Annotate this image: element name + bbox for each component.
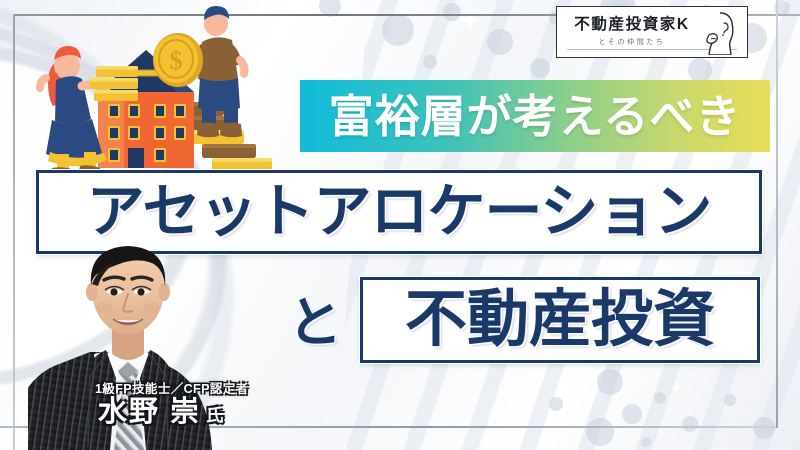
background-dot <box>688 58 712 82</box>
presenter-name-text: 水野 崇 <box>98 396 201 428</box>
headline-line3-text: 不動産投資 <box>405 289 715 351</box>
background-dot <box>530 58 550 78</box>
gold-coin-dollar-sign: $ <box>153 33 203 87</box>
background-dot <box>549 397 563 411</box>
background-dot <box>753 417 775 439</box>
thumbnail-canvas: $ 不動産投資家K とその仲間たち 富裕層が考えるべき アセットアロケーション … <box>0 0 800 450</box>
background-dot <box>443 3 461 21</box>
background-dot <box>654 392 666 404</box>
headline-line1-text: 富裕層が考えるべき <box>329 94 742 139</box>
presenter-credential: 1級FP技能士／CFP認定者 <box>95 378 249 397</box>
background-dot <box>423 55 437 69</box>
channel-logo-title: 不動産投資家K <box>574 17 689 33</box>
headline-connector: と <box>288 296 342 350</box>
background-dot <box>724 394 736 406</box>
background-dot <box>597 369 623 395</box>
frame-line-right <box>776 0 778 428</box>
real-estate-investment-illustration: $ <box>16 2 284 174</box>
background-dot <box>682 416 698 432</box>
channel-logo[interactable]: 不動産投資家K とその仲間たち <box>556 6 748 58</box>
background-dot <box>487 29 513 55</box>
svg-text:$: $ <box>170 46 183 75</box>
headline-band-line1: 富裕層が考えるべき <box>300 80 770 152</box>
channel-logo-subtitle: とその仲間たち <box>599 37 666 47</box>
background-sparkle-icon <box>459 9 481 31</box>
background-dot <box>622 404 642 424</box>
frame-line-left <box>13 14 15 450</box>
person-thinking-icon <box>699 9 743 55</box>
background-dot <box>586 418 614 446</box>
presenter-honorific: 氏 <box>206 406 223 425</box>
headline-box-line3: 不動産投資 <box>360 277 760 363</box>
background-sparkle-icon <box>670 382 682 394</box>
background-dot <box>382 14 414 46</box>
presenter-name: 水野 崇氏 <box>98 398 223 427</box>
background-dot <box>641 437 651 447</box>
